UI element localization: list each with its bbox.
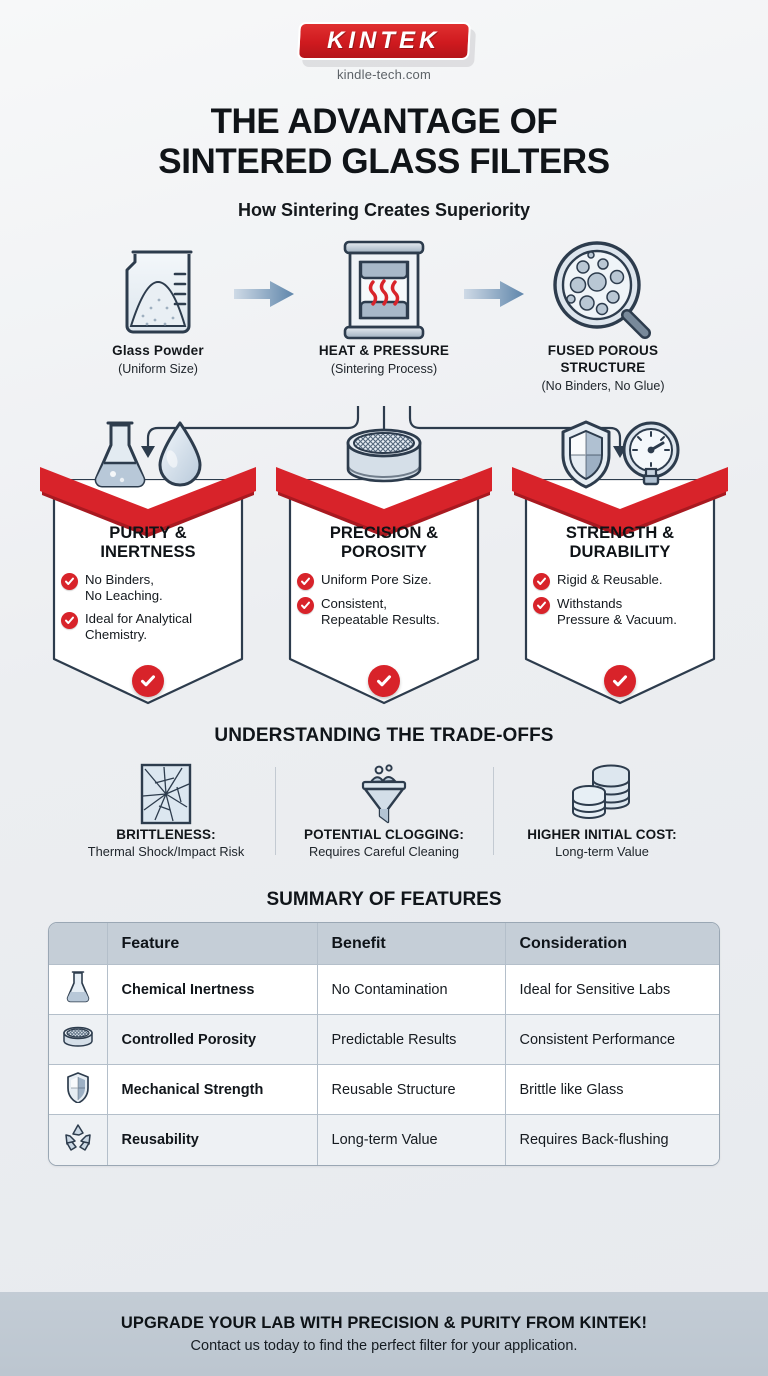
card-badge-check	[132, 665, 164, 697]
row-consideration: Requires Back-flushing	[505, 1115, 719, 1165]
tradeoff-brittleness: BRITTLENESS: Thermal Shock/Impact Risk	[57, 761, 275, 879]
row-icon-cell	[49, 1115, 107, 1165]
card-bullet-text: Withstands Pressure & Vacuum.	[557, 596, 677, 629]
flask-icon	[65, 970, 91, 1004]
card-bullet: Consistent, Repeatable Results.	[297, 596, 480, 629]
card-title-line1: PRECISION &	[288, 524, 480, 543]
row-icon-cell	[49, 965, 107, 1015]
row-consideration: Consistent Performance	[505, 1015, 719, 1065]
header: KINTEK kindle-tech.com THE ADVANTAGE OF …	[0, 0, 768, 221]
card-title: PURITY & INERTNESS	[52, 524, 244, 563]
process-step-label: FUSED POROUS	[513, 343, 693, 360]
process-step-sublabel: (Sintering Process)	[294, 361, 474, 377]
card-title-line2: DURABILITY	[524, 543, 716, 562]
row-feature: Chemical Inertness	[107, 965, 317, 1015]
kintek-logo: KINTEK	[298, 22, 470, 60]
row-icon-cell	[49, 1015, 107, 1065]
card-bullet: Uniform Pore Size.	[297, 572, 480, 590]
table-col-consideration: Consideration	[505, 923, 719, 965]
footer-cta: UPGRADE YOUR LAB WITH PRECISION & PURITY…	[0, 1292, 768, 1376]
row-feature: Mechanical Strength	[107, 1065, 317, 1115]
footer-headline: UPGRADE YOUR LAB WITH PRECISION & PURITY…	[121, 1314, 647, 1333]
process-step-heat-pressure: HEAT & PRESSURE (Sintering Process)	[294, 237, 474, 377]
table-row: Controlled Porosity Predictable Results …	[49, 1015, 719, 1065]
process-step-label: Glass Powder	[68, 343, 248, 360]
row-feature: Controlled Porosity	[107, 1015, 317, 1065]
table-col-benefit: Benefit	[317, 923, 505, 965]
benefit-cards: PURITY & INERTNESS No Binders, No Leachi…	[0, 419, 768, 719]
tradeoff-label: POTENTIAL CLOGGING:	[304, 827, 464, 842]
check-icon	[61, 612, 78, 629]
row-icon-cell	[49, 1065, 107, 1115]
process-step-sublabel: (No Binders, No Glue)	[513, 378, 693, 394]
site-url: kindle-tech.com	[0, 67, 768, 82]
process-step-label-2: STRUCTURE	[513, 360, 693, 377]
check-icon	[297, 573, 314, 590]
magnifier-porous-icon	[513, 237, 693, 343]
table-col-icon	[49, 923, 107, 965]
check-icon	[61, 573, 78, 590]
card-bullet: Rigid & Reusable.	[533, 572, 716, 590]
row-benefit: Reusable Structure	[317, 1065, 505, 1115]
page-title: THE ADVANTAGE OF SINTERED GLASS FILTERS	[0, 102, 768, 182]
footer-subline: Contact us today to find the perfect fil…	[191, 1338, 578, 1354]
card-bullet-text: Consistent, Repeatable Results.	[321, 596, 440, 629]
tradeoff-cost: HIGHER INITIAL COST: Long-term Value	[493, 761, 711, 879]
page-subtitle: How Sintering Creates Superiority	[0, 200, 768, 221]
logo-text: KINTEK	[327, 27, 440, 55]
beaker-powder-icon	[68, 237, 248, 343]
row-benefit: Long-term Value	[317, 1115, 505, 1165]
summary-section: SUMMARY OF FEATURES Feature Benefit Cons…	[0, 889, 768, 1166]
card-badge-check	[368, 665, 400, 697]
tradeoff-clogging: POTENTIAL CLOGGING: Requires Careful Cle…	[275, 761, 493, 879]
card-title-line2: POROSITY	[288, 543, 480, 562]
check-icon	[297, 597, 314, 614]
card-content: STRENGTH & DURABILITY Rigid & Reusable.	[512, 479, 728, 635]
row-benefit: No Contamination	[317, 965, 505, 1015]
cracked-glass-icon	[137, 761, 195, 827]
page-title-line1: THE ADVANTAGE OF	[0, 102, 768, 142]
page-title-line2: SINTERED GLASS FILTERS	[0, 142, 768, 182]
card-bullets: Uniform Pore Size. Consistent, Repeatabl…	[288, 572, 480, 629]
process-step-glass-powder: Glass Powder (Uniform Size)	[68, 237, 248, 377]
table-row: Mechanical Strength Reusable Structure B…	[49, 1065, 719, 1115]
card-bullet-text: Rigid & Reusable.	[557, 572, 663, 589]
table-col-feature: Feature	[107, 923, 317, 965]
tradeoff-label: BRITTLENESS:	[116, 827, 215, 842]
coin-stack-icon	[569, 761, 635, 827]
tradeoffs-row: BRITTLENESS: Thermal Shock/Impact Risk P…	[0, 761, 768, 879]
card-content: PRECISION & POROSITY Uniform Pore Size.	[276, 479, 492, 635]
card-title-line2: INERTNESS	[52, 543, 244, 562]
card-title-line1: STRENGTH &	[524, 524, 716, 543]
card-bullets: Rigid & Reusable. Withstands Pressure & …	[524, 572, 716, 629]
process-step-fused-porous: FUSED POROUS STRUCTURE (No Binders, No G…	[513, 237, 693, 394]
tradeoff-sublabel: Long-term Value	[555, 844, 649, 859]
row-feature: Reusability	[107, 1115, 317, 1165]
table-row: Chemical Inertness No Contamination Idea…	[49, 965, 719, 1015]
row-benefit: Predictable Results	[317, 1015, 505, 1065]
card-content: PURITY & INERTNESS No Binders, No Leachi…	[40, 479, 256, 650]
clogged-funnel-icon	[353, 761, 415, 827]
tradeoffs-section: UNDERSTANDING THE TRADE-OFFS BRITTLENESS	[0, 725, 768, 879]
shield-icon	[65, 1071, 91, 1103]
card-title: STRENGTH & DURABILITY	[524, 524, 716, 563]
card-title: PRECISION & POROSITY	[288, 524, 480, 563]
tradeoff-sublabel: Thermal Shock/Impact Risk	[88, 844, 244, 859]
card-bullet-text: No Binders, No Leaching.	[85, 572, 163, 605]
process-step-sublabel: (Uniform Size)	[68, 361, 248, 377]
card-bullet-text: Ideal for Analytical Chemistry.	[85, 611, 192, 644]
tradeoff-sublabel: Requires Careful Cleaning	[309, 844, 459, 859]
card-badge-check	[604, 665, 636, 697]
summary-title: SUMMARY OF FEATURES	[0, 889, 768, 911]
sieve-mesh-icon	[61, 1023, 95, 1051]
recycle-icon	[62, 1122, 94, 1154]
card-bullet: No Binders, No Leaching.	[61, 572, 244, 605]
logo-banner: KINTEK	[297, 22, 471, 60]
card-bullets: No Binders, No Leaching. Ideal for Analy…	[52, 572, 244, 644]
card-bullet-text: Uniform Pore Size.	[321, 572, 432, 589]
furnace-heat-press-icon	[294, 237, 474, 343]
table-header-row: Feature Benefit Consideration	[49, 923, 719, 965]
check-icon	[533, 597, 550, 614]
card-title-line1: PURITY &	[52, 524, 244, 543]
card-bullet: Withstands Pressure & Vacuum.	[533, 596, 716, 629]
right-arrow-icon	[232, 279, 298, 314]
table-row: Reusability Long-term Value Requires Bac…	[49, 1115, 719, 1165]
row-consideration: Ideal for Sensitive Labs	[505, 965, 719, 1015]
tradeoff-label: HIGHER INITIAL COST:	[527, 827, 677, 842]
card-bullet: Ideal for Analytical Chemistry.	[61, 611, 244, 644]
process-step-label: HEAT & PRESSURE	[294, 343, 474, 360]
row-consideration: Brittle like Glass	[505, 1065, 719, 1115]
infographic-page: KINTEK kindle-tech.com THE ADVANTAGE OF …	[0, 0, 768, 1376]
tradeoffs-title: UNDERSTANDING THE TRADE-OFFS	[0, 725, 768, 747]
summary-table: Feature Benefit Consideration	[48, 922, 720, 1166]
check-icon	[533, 573, 550, 590]
process-flow: Glass Powder (Uniform Size)	[0, 237, 768, 417]
